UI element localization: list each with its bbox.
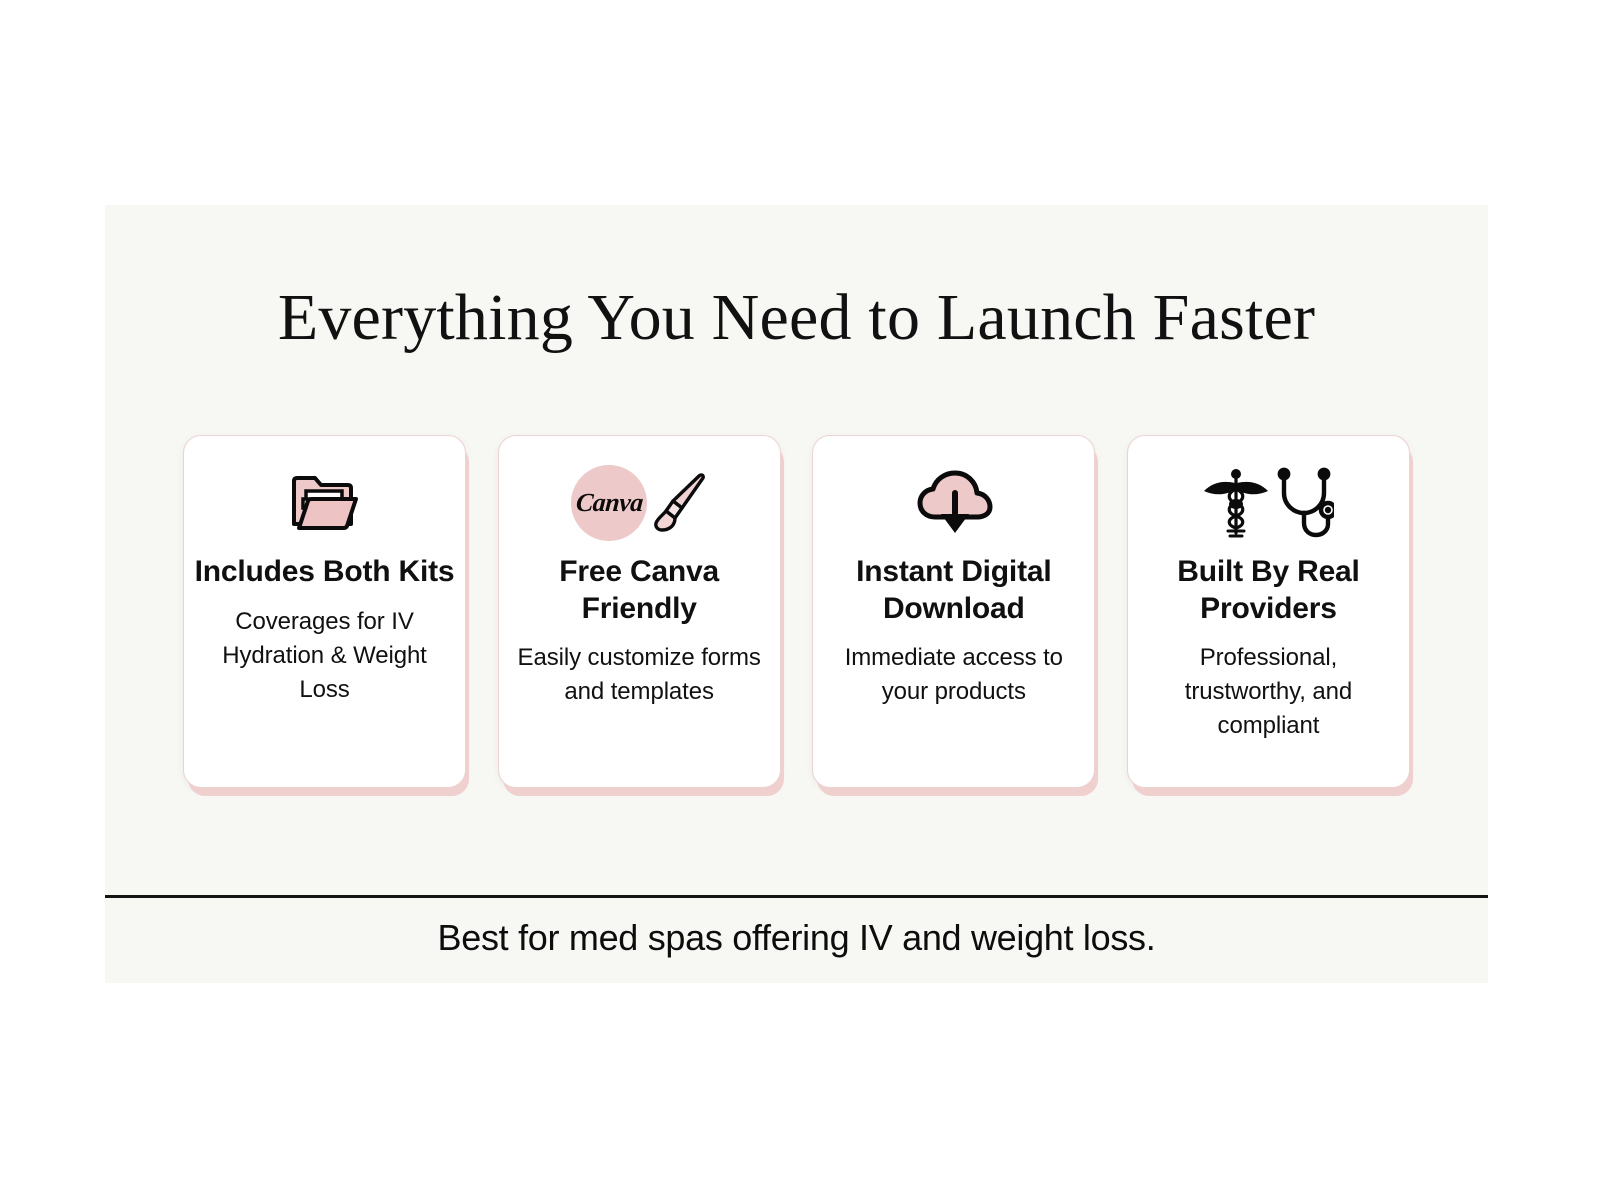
canva-paintbrush-icon: Canva <box>499 464 780 542</box>
caduceus-stethoscope-icon <box>1128 464 1409 542</box>
feature-card[interactable]: Includes Both Kits Coverages for IV Hydr… <box>183 435 466 788</box>
folder-icon <box>184 464 465 542</box>
footer-divider <box>105 895 1488 898</box>
page-title: Everything You Need to Launch Faster <box>105 283 1488 352</box>
feature-panel: Everything You Need to Launch Faster Inc… <box>105 205 1488 983</box>
canva-logo-label: Canva <box>575 488 644 518</box>
card-title: Includes Both Kits <box>185 554 465 591</box>
feature-card[interactable]: Instant Digital Download Immediate acces… <box>812 435 1095 788</box>
feature-card[interactable]: Canva Free Canva Friendly Easily customi… <box>498 435 781 788</box>
paintbrush-icon <box>649 470 707 536</box>
card-description: Easily customize forms and templates <box>499 641 780 709</box>
caduceus-icon <box>1204 469 1268 536</box>
cloud-download-icon <box>813 464 1094 542</box>
card-description: Coverages for IV Hydration & Weight Loss <box>184 605 465 707</box>
feature-card[interactable]: Built By Real Providers Professional, tr… <box>1127 435 1410 788</box>
stethoscope-icon <box>1280 470 1334 535</box>
canva-logo-circle: Canva <box>571 465 647 541</box>
card-title: Built By Real Providers <box>1128 554 1409 627</box>
card-description: Professional, trustworthy, and compliant <box>1128 641 1409 743</box>
slide-root: Everything You Need to Launch Faster Inc… <box>0 0 1600 1200</box>
card-title: Free Canva Friendly <box>499 554 780 627</box>
card-description: Immediate access to your products <box>813 641 1094 709</box>
card-title: Instant Digital Download <box>813 554 1094 627</box>
footer-note: Best for med spas offering IV and weight… <box>105 917 1488 959</box>
feature-card-row: Includes Both Kits Coverages for IV Hydr… <box>183 435 1410 803</box>
